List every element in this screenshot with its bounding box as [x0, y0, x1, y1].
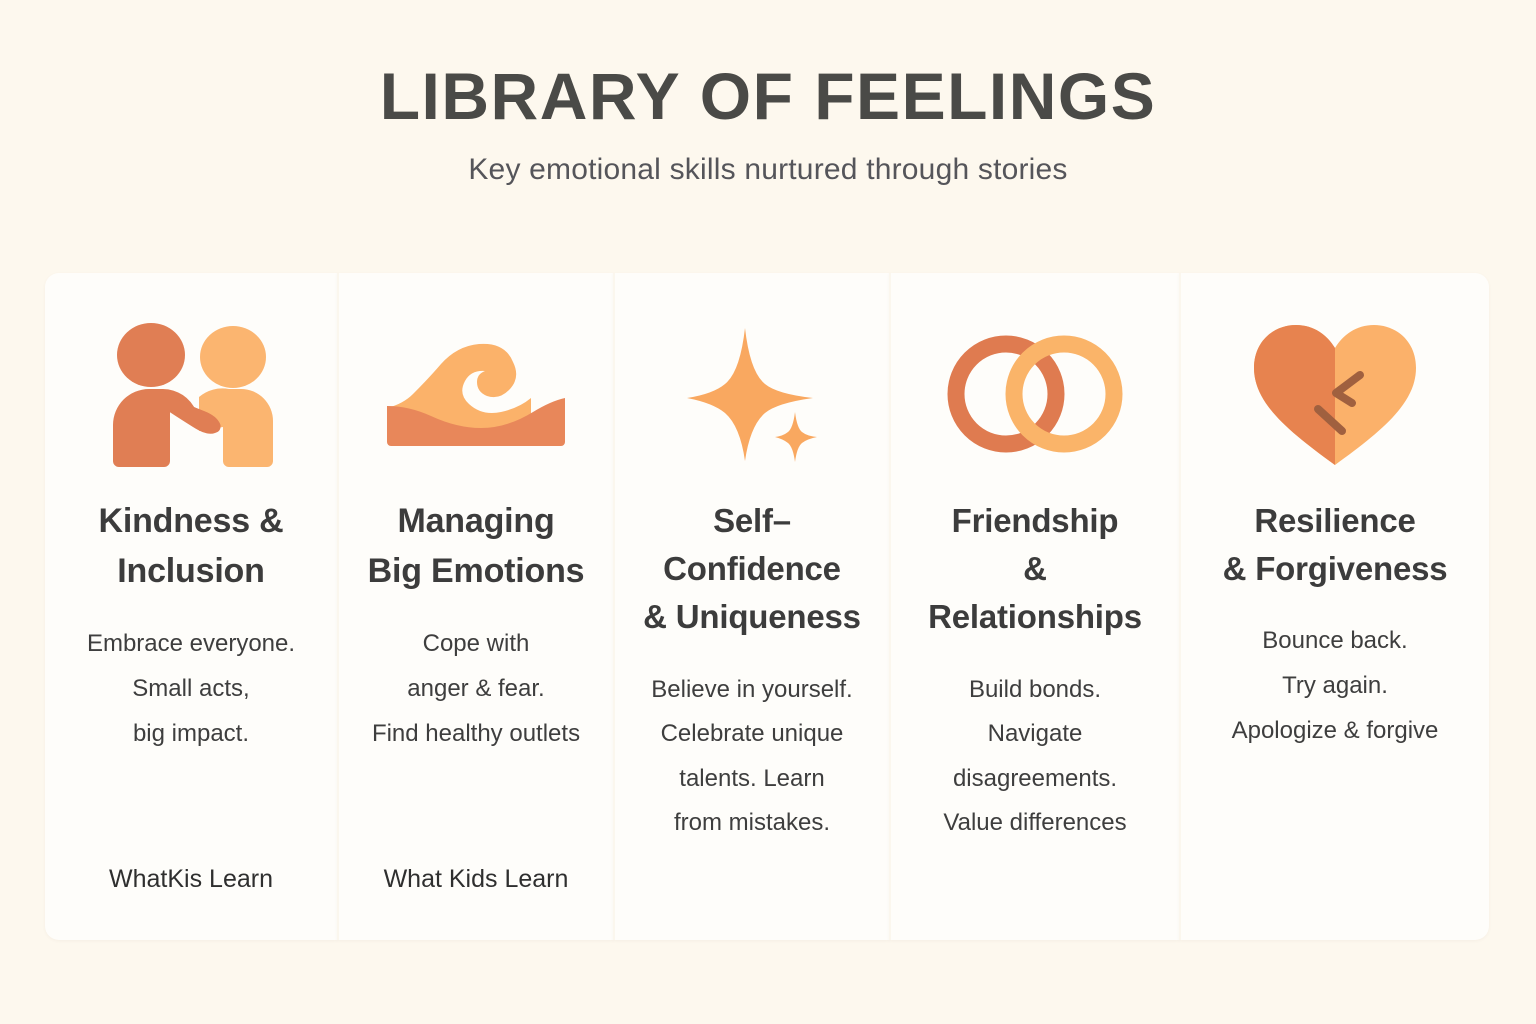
card-title: Self– Confidence & Uniqueness — [643, 497, 861, 642]
card-description: Believe in yourself. Celebrate unique ta… — [651, 668, 852, 847]
card-kindness-inclusion[interactable]: Kindness & Inclusion Embrace everyone. S… — [45, 273, 337, 940]
card-title: Friendship & Relationships — [928, 497, 1142, 642]
two-people-handshake-icon — [103, 321, 279, 467]
icon-container — [683, 319, 821, 469]
ocean-wave-icon — [383, 338, 569, 450]
page-title: LIBRARY OF FEELINGS — [0, 62, 1536, 131]
card-friendship-relationships[interactable]: Friendship & Relationships Build bonds. … — [889, 273, 1179, 940]
interlocking-rings-icon — [948, 322, 1122, 466]
card-managing-big-emotions[interactable]: Managing Big Emotions Cope with anger & … — [337, 273, 613, 940]
icon-container — [948, 319, 1122, 469]
sparkle-star-icon — [683, 324, 821, 464]
icon-container — [383, 319, 569, 469]
icon-container — [103, 319, 279, 469]
card-title: Resilience & Forgiveness — [1223, 497, 1448, 593]
card-footer-label: WhatKis Learn — [45, 865, 337, 894]
card-self-confidence-uniqueness[interactable]: Self– Confidence & Uniqueness Believe in… — [613, 273, 889, 940]
card-description: Build bonds. Navigate disagreements. Val… — [943, 668, 1126, 847]
card-footer-label: What Kids Learn — [339, 865, 613, 894]
page-subtitle: Key emotional skills nurtured through st… — [0, 153, 1536, 187]
header: LIBRARY OF FEELINGS Key emotional skills… — [0, 62, 1536, 187]
card-description: Cope with anger & fear. Find healthy out… — [372, 622, 580, 756]
card-description: Bounce back. Try again. Apologize & forg… — [1232, 619, 1439, 753]
card-description: Embrace everyone. Small acts, big impact… — [87, 622, 295, 756]
infographic-page: LIBRARY OF FEELINGS Key emotional skills… — [0, 0, 1536, 1024]
mending-heart-icon — [1248, 319, 1422, 469]
card-title: Kindness & Inclusion — [98, 497, 283, 596]
card-strip: Kindness & Inclusion Embrace everyone. S… — [45, 273, 1491, 940]
card-resilience-forgiveness[interactable]: Resilience & Forgiveness Bounce back. Tr… — [1179, 273, 1489, 940]
card-title: Managing Big Emotions — [368, 497, 585, 596]
icon-container — [1248, 319, 1422, 469]
